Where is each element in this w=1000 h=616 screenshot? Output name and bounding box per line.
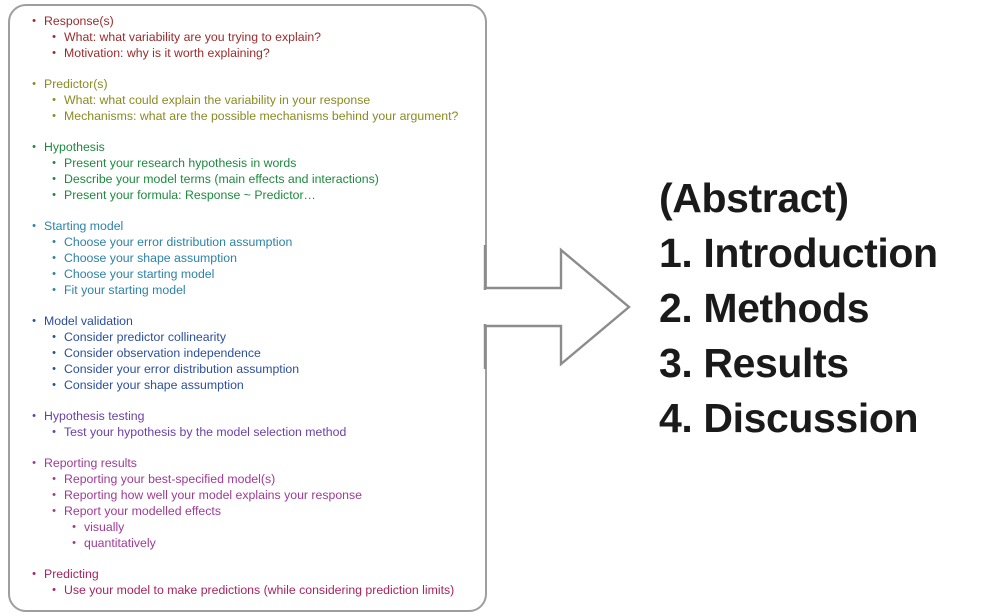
checklist-item: •Mechanisms: what are the possible mecha… <box>48 108 481 124</box>
bullet-icon: • <box>68 535 80 551</box>
checklist-heading: •Response(s) <box>28 13 481 29</box>
checklist-group-model-validation: •Model validation•Consider predictor col… <box>20 313 481 393</box>
checklist-group-predicting: •Predicting•Use your model to make predi… <box>20 566 481 598</box>
checklist-heading: •Predictor(s) <box>28 76 481 92</box>
bullet-icon: • <box>48 282 60 298</box>
checklist-item-label: Test your hypothesis by the model select… <box>48 424 346 440</box>
checklist-item-label: Starting model <box>28 218 123 234</box>
bullet-icon: • <box>28 76 40 92</box>
bullet-icon: • <box>48 266 60 282</box>
bullet-icon: • <box>48 155 60 171</box>
checklist-group-predictor: •Predictor(s)•What: what could explain t… <box>20 76 481 124</box>
checklist-heading: •Hypothesis <box>28 139 481 155</box>
bullet-icon: • <box>48 250 60 266</box>
checklist-item: •Motivation: why is it worth explaining? <box>48 45 481 61</box>
bullet-icon: • <box>48 187 60 203</box>
checklist-item-label: Choose your shape assumption <box>48 250 237 266</box>
checklist-item-label: Reporting results <box>28 455 137 471</box>
checklist-item: •Reporting your best-specified model(s) <box>48 471 481 487</box>
checklist-item: •What: what could explain the variabilit… <box>48 92 481 108</box>
checklist-item-label: quantitatively <box>68 535 156 551</box>
bullet-icon: • <box>48 171 60 187</box>
bullet-icon: • <box>48 345 60 361</box>
checklist-item: •Reporting how well your model explains … <box>48 487 481 503</box>
checklist-item-label: Hypothesis testing <box>28 408 144 424</box>
bullet-icon: • <box>28 313 40 329</box>
checklist-item: •Present your research hypothesis in wor… <box>48 155 481 171</box>
checklist-item-label: Reporting your best-specified model(s) <box>48 471 275 487</box>
checklist-item: •Report your modelled effects <box>48 503 481 519</box>
checklist-heading: •Model validation <box>28 313 481 329</box>
bullet-icon: • <box>48 424 60 440</box>
checklist-item-label: Describe your model terms (main effects … <box>48 171 379 187</box>
checklist-item-label: What: what could explain the variability… <box>48 92 370 108</box>
checklist-item: •Consider your shape assumption <box>48 377 481 393</box>
bullet-icon: • <box>48 582 60 598</box>
right-arrow-icon <box>483 243 633 371</box>
checklist-heading: •Hypothesis testing <box>28 408 481 424</box>
checklist-item: •quantitatively <box>68 535 481 551</box>
checklist-groups: •Response(s)•What: what variability are … <box>20 13 481 598</box>
checklist-item-label: Consider predictor collinearity <box>48 329 226 345</box>
bullet-icon: • <box>28 218 40 234</box>
checklist-item: •What: what variability are you trying t… <box>48 29 481 45</box>
checklist-item: •Use your model to make predictions (whi… <box>48 582 481 598</box>
bullet-icon: • <box>48 487 60 503</box>
checklist-item-label: Motivation: why is it worth explaining? <box>48 45 270 61</box>
bullet-icon: • <box>48 377 60 393</box>
checklist-group-hypothesis-testing: •Hypothesis testing•Test your hypothesis… <box>20 408 481 440</box>
bullet-icon: • <box>48 471 60 487</box>
paper-section-line: 3. Results <box>659 336 995 391</box>
bullet-icon: • <box>48 503 60 519</box>
checklist-item-label: Choose your starting model <box>48 266 214 282</box>
checklist-item: •Choose your shape assumption <box>48 250 481 266</box>
bullet-icon: • <box>28 455 40 471</box>
arrow-body <box>485 250 629 364</box>
checklist-item: •Choose your starting model <box>48 266 481 282</box>
checklist-item-label: Mechanisms: what are the possible mechan… <box>48 108 458 124</box>
checklist-item-label: Fit your starting model <box>48 282 186 298</box>
checklist-item-label: Present your research hypothesis in word… <box>48 155 296 171</box>
checklist-heading: •Predicting <box>28 566 481 582</box>
paper-section-line: 1. Introduction <box>659 226 995 281</box>
paper-structure-list: (Abstract)1. Introduction2. Methods3. Re… <box>659 171 995 446</box>
checklist-item: •Present your formula: Response ~ Predic… <box>48 187 481 203</box>
workflow-checklist-panel: •Response(s)•What: what variability are … <box>8 4 487 612</box>
checklist-group-reporting-results: •Reporting results•Reporting your best-s… <box>20 455 481 551</box>
checklist-item-label: Consider observation independence <box>48 345 261 361</box>
bullet-icon: • <box>28 408 40 424</box>
checklist-item-label: Consider your error distribution assumpt… <box>48 361 299 377</box>
paper-section-line: 4. Discussion <box>659 391 995 446</box>
bullet-icon: • <box>48 92 60 108</box>
bullet-icon: • <box>68 519 80 535</box>
checklist-item-label: Choose your error distribution assumptio… <box>48 234 292 250</box>
checklist-group-hypothesis: •Hypothesis•Present your research hypoth… <box>20 139 481 203</box>
checklist-item-label: Response(s) <box>28 13 114 29</box>
bullet-icon: • <box>48 329 60 345</box>
checklist-item: •Consider predictor collinearity <box>48 329 481 345</box>
checklist-item-label: Consider your shape assumption <box>48 377 244 393</box>
arrow-tail-cutout <box>483 290 488 324</box>
bullet-icon: • <box>28 139 40 155</box>
bullet-icon: • <box>28 13 40 29</box>
paper-section-line: (Abstract) <box>659 171 995 226</box>
checklist-item: •Fit your starting model <box>48 282 481 298</box>
checklist-item: •Consider your error distribution assump… <box>48 361 481 377</box>
bullet-icon: • <box>28 566 40 582</box>
checklist-item-label: What: what variability are you trying to… <box>48 29 321 45</box>
bullet-icon: • <box>48 29 60 45</box>
checklist-item-label: Present your formula: Response ~ Predict… <box>48 187 316 203</box>
checklist-item-label: Report your modelled effects <box>48 503 221 519</box>
checklist-item-label: Model validation <box>28 313 133 329</box>
checklist-item: •Choose your error distribution assumpti… <box>48 234 481 250</box>
bullet-icon: • <box>48 45 60 61</box>
checklist-item: •Describe your model terms (main effects… <box>48 171 481 187</box>
paper-section-line: 2. Methods <box>659 281 995 336</box>
checklist-group-response: •Response(s)•What: what variability are … <box>20 13 481 61</box>
checklist-item-label: Reporting how well your model explains y… <box>48 487 362 503</box>
bullet-icon: • <box>48 108 60 124</box>
checklist-item: •Consider observation independence <box>48 345 481 361</box>
bullet-icon: • <box>48 234 60 250</box>
checklist-item: •visually <box>68 519 481 535</box>
checklist-item-label: Use your model to make predictions (whil… <box>48 582 454 598</box>
bullet-icon: • <box>48 361 60 377</box>
checklist-group-starting-model: •Starting model•Choose your error distri… <box>20 218 481 298</box>
checklist-heading: •Reporting results <box>28 455 481 471</box>
checklist-heading: •Starting model <box>28 218 481 234</box>
checklist-item: •Test your hypothesis by the model selec… <box>48 424 481 440</box>
